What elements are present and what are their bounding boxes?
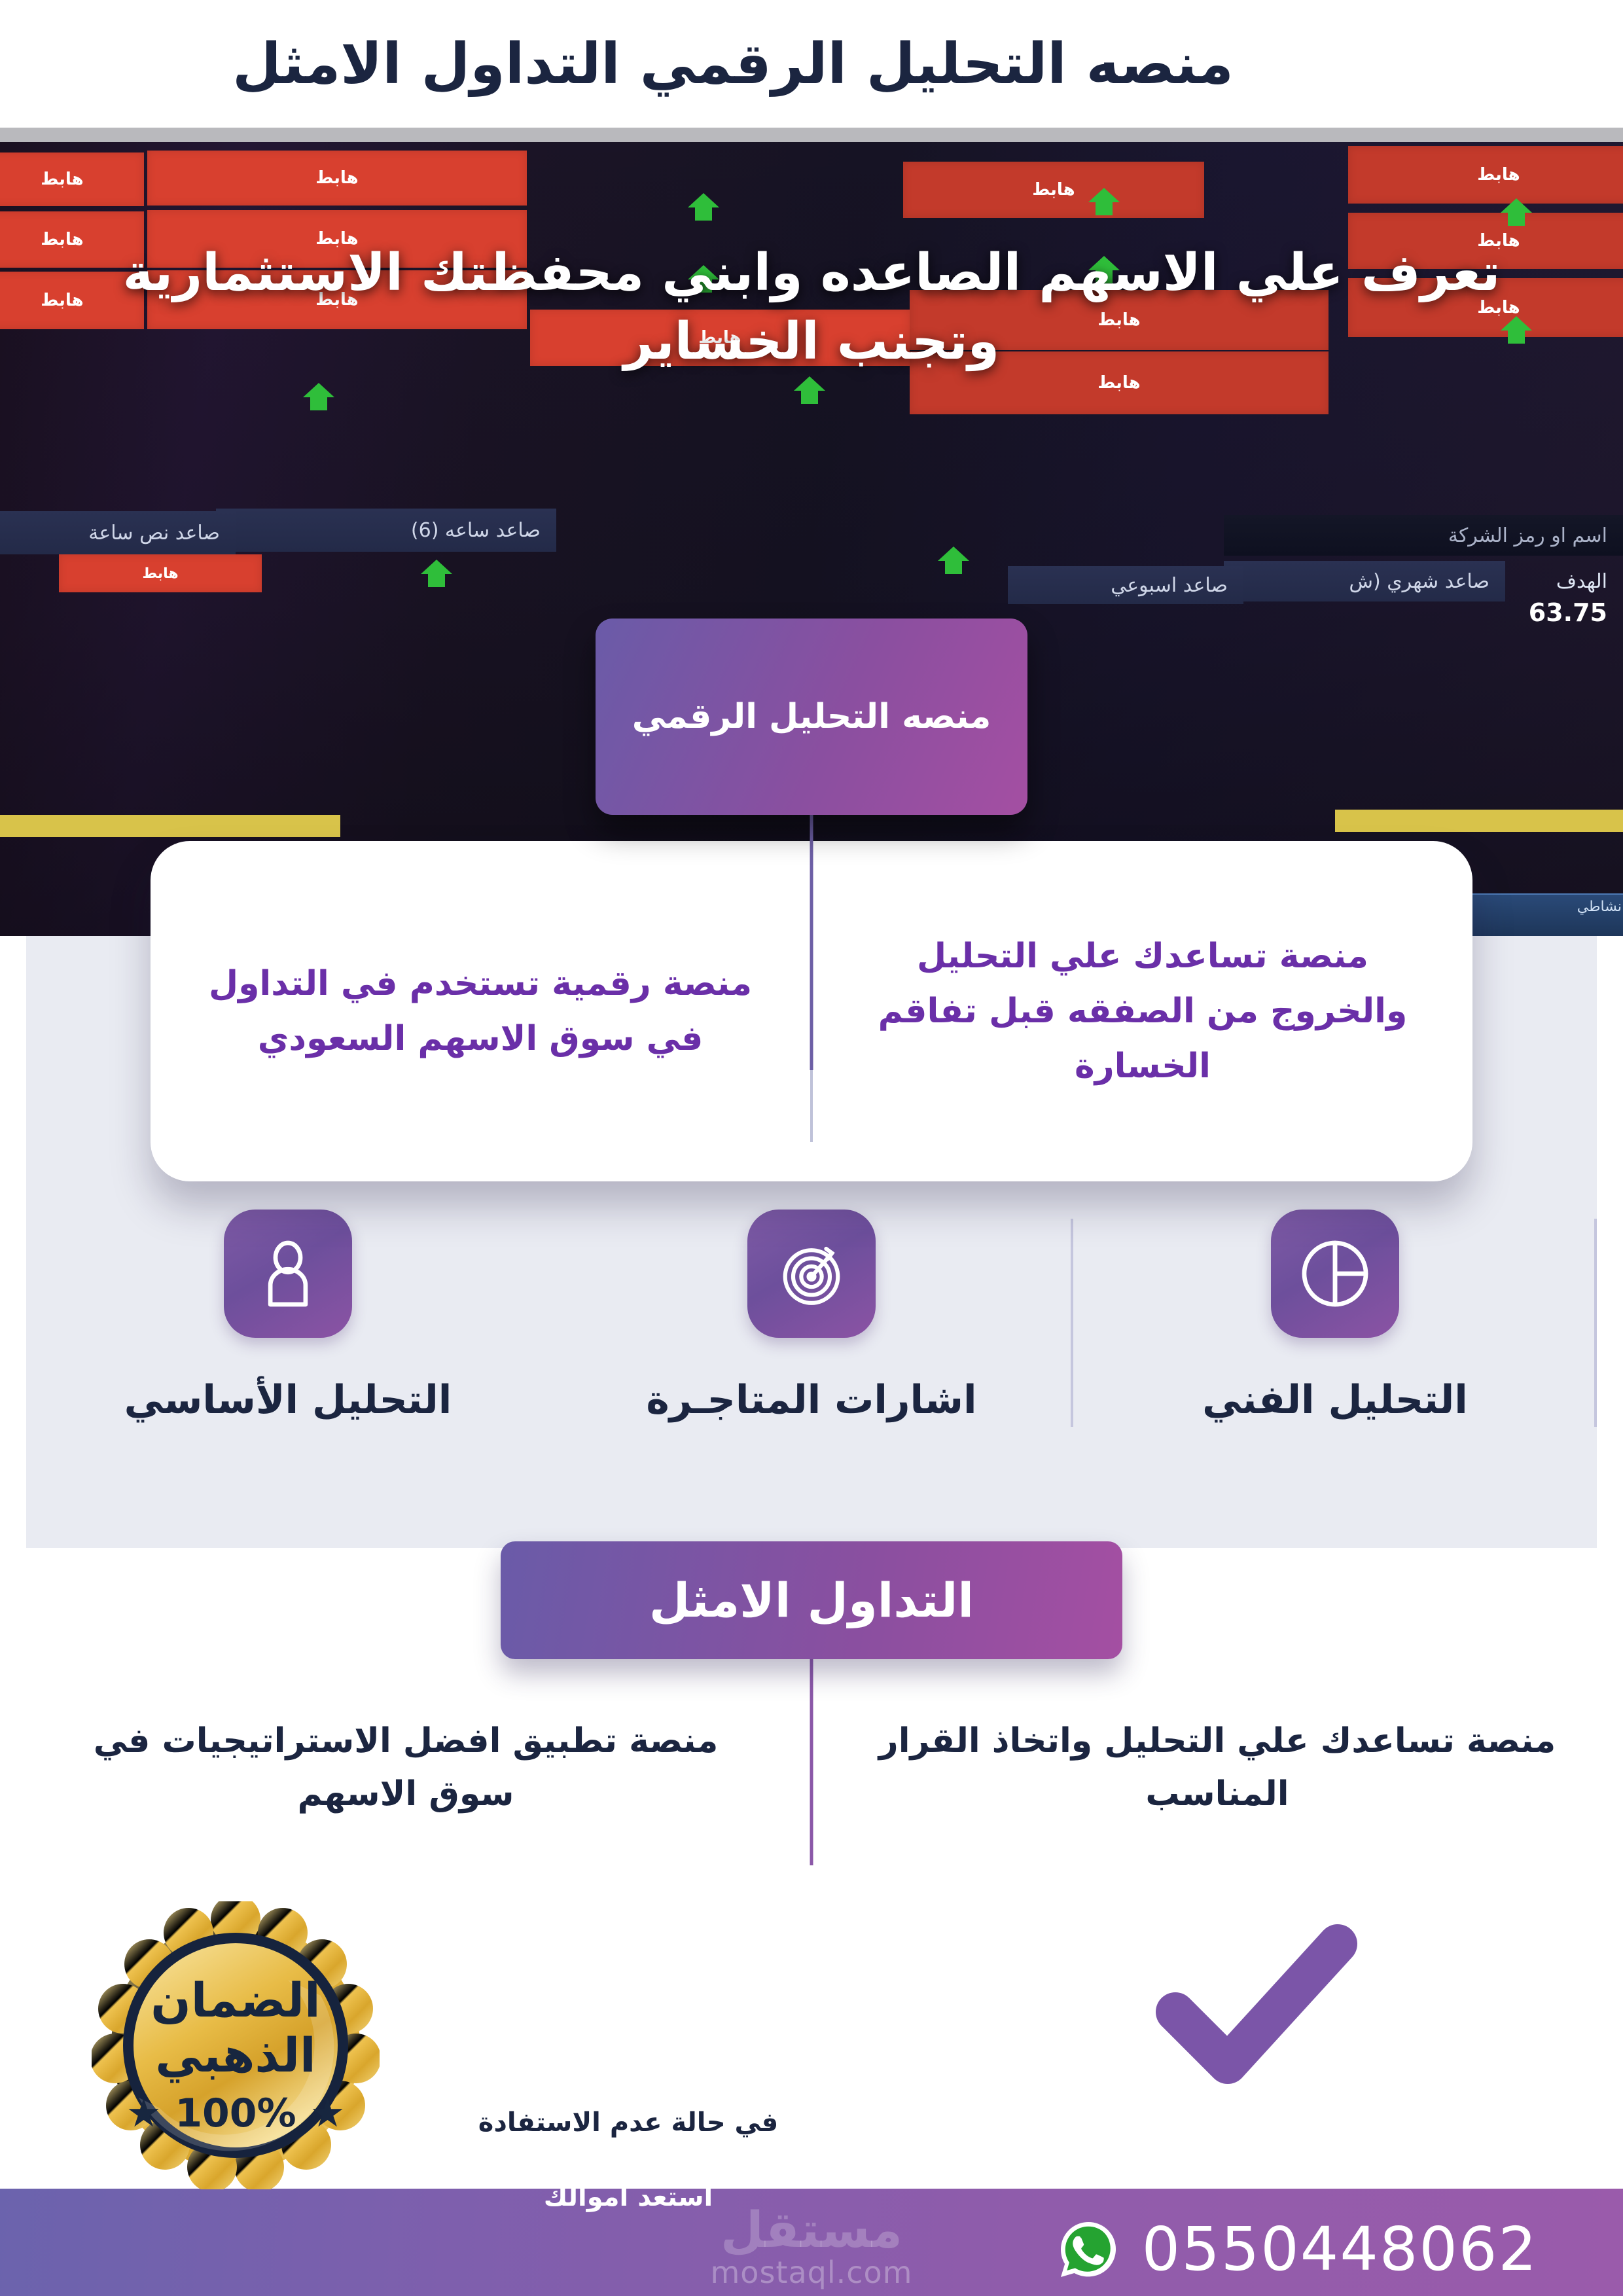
refund-line-1: في حالة عدم الاستفادة: [406, 2104, 851, 2142]
contact-block[interactable]: 0550448062: [1057, 2214, 1538, 2284]
screen-highlight-bar: [0, 815, 340, 837]
intro-card-col-right: منصة تساعدك علي التحليل والخروج من الصفق…: [813, 841, 1472, 1181]
feature-label: التحليل الأساسي: [124, 1377, 452, 1423]
market-tile-down: هابط: [59, 554, 262, 592]
person-icon: [224, 1210, 352, 1338]
benefit-col-left: منصة تطبيق افضل الاستراتيجيات في سوق الا…: [0, 1715, 811, 1885]
platform-badge: منصه التحليل الرقمي: [596, 619, 1027, 815]
market-tile-down: هابط: [1348, 146, 1623, 204]
screen-column-header: اسم او رمز الشركة: [1224, 515, 1623, 556]
feature-label: التحليل الفني: [1202, 1377, 1468, 1423]
seal-percent: ★ 100% ★: [126, 2090, 346, 2136]
seal-line-2: الذهبي: [155, 2028, 315, 2083]
hero-headline-line-2: وتجنب الخساير: [59, 308, 1564, 376]
whatsapp-icon[interactable]: [1057, 2218, 1120, 2281]
page-title: منصه التحليل الرقمي التداول الامثل: [232, 31, 1430, 97]
intro-card-col-left: منصة رقمية تستخدم في التداول في سوق الاس…: [151, 841, 810, 1181]
checkmark-icon: [1152, 1918, 1361, 2088]
badge-connector-line: [810, 795, 813, 1070]
features-row: التحليل الفني اشارات المتاجـرة: [26, 1210, 1597, 1471]
platform-badge-label: منصه التحليل الرقمي: [632, 697, 991, 736]
refund-line-2: من المنصة خلال سنة: [406, 2142, 851, 2179]
screen-highlight-bar: [1335, 810, 1623, 832]
gold-guarantee-seal: الضمان الذهبي ★ 100% ★: [92, 1901, 380, 2189]
benefit-col-right: منصة تساعدك علي التحليل واتخاذ القرار ال…: [811, 1715, 1623, 1885]
feature-divider: [1071, 1219, 1073, 1427]
screen-bezel: [0, 128, 1623, 142]
screen-tab-label: نشاطي: [1461, 895, 1623, 919]
intro-card-text-left: منصة رقمية تستخدم في التداول في سوق الاس…: [196, 956, 764, 1066]
pie-chart-icon: [1271, 1210, 1399, 1338]
refund-line-3: استعد اموالك: [406, 2179, 851, 2216]
feature-trading-signals[interactable]: اشارات المتاجـرة: [550, 1210, 1073, 1471]
feature-fundamental-analysis[interactable]: التحليل الأساسي: [26, 1210, 550, 1471]
hero-headline: تعرف علي الاسهم الصاعده وابني محفظتك الا…: [0, 239, 1623, 377]
phone-number[interactable]: 0550448062: [1142, 2214, 1538, 2284]
benefit-text-right: منصة تساعدك علي التحليل واتخاذ القرار ال…: [864, 1715, 1571, 1820]
market-tile-down: هابط: [903, 162, 1204, 218]
feature-label: اشارات المتاجـرة: [646, 1377, 976, 1423]
benefit-text-left: منصة تطبيق افضل الاستراتيجيات في سوق الا…: [52, 1715, 759, 1820]
benefits-row: منصة تساعدك علي التحليل واتخاذ القرار ال…: [0, 1715, 1623, 1885]
screen-column-header: صاعد اسبوعي: [1008, 566, 1243, 604]
screen-column-header: صاعد شهري (ش: [1224, 561, 1505, 601]
feature-divider: [1594, 1219, 1597, 1427]
page-header: منصه التحليل الرقمي التداول الامثل: [0, 0, 1623, 128]
refund-guarantee-text: في حالة عدم الاستفادة من المنصة خلال سنة…: [406, 2104, 851, 2215]
intro-card-text-right: منصة تساعدك علي التحليل والخروج من الصفق…: [859, 929, 1427, 1094]
market-tile-down: هابط: [0, 152, 144, 206]
seal-line-1: الضمان: [151, 1973, 320, 2028]
screen-column-header: صاعد نص ساعة: [0, 511, 236, 554]
screen-tab-panel: نشاطي: [1459, 893, 1623, 936]
optimal-trading-label: التداول الامثل: [649, 1573, 974, 1628]
hero-headline-line-1: تعرف علي الاسهم الصاعده وابني محفظتك الا…: [59, 239, 1564, 308]
market-tile-down: هابط: [147, 151, 527, 206]
optimal-trading-banner: التداول الامثل: [501, 1541, 1122, 1659]
screen-target-value: 63.75: [1499, 594, 1623, 632]
screen-column-header: صاعد ساعه (6): [216, 509, 556, 552]
target-icon: [747, 1210, 876, 1338]
feature-technical-analysis[interactable]: التحليل الفني: [1073, 1210, 1597, 1471]
